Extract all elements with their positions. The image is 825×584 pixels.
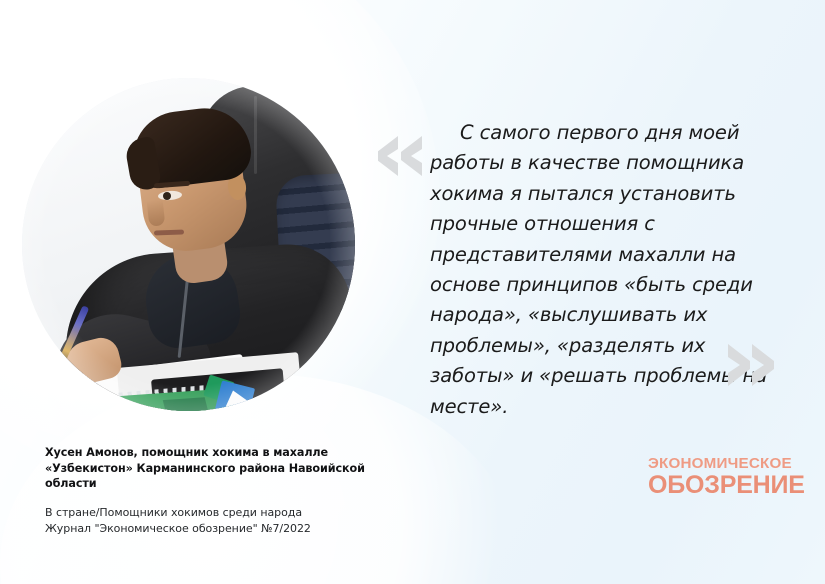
caption-source-block: В стране/Помощники хокимов среди народа … (45, 505, 395, 537)
caption-name-line-2: «Узбекистон» Карманинского района Навоий… (45, 461, 395, 492)
quote-card-slide: С самого первого дня моей работы в качес… (0, 0, 825, 584)
photo-edge-vignette (22, 78, 355, 411)
caption-name-line-1: Хусен Амонов, помощник хокима в махалле (45, 445, 395, 461)
portrait-photo (22, 78, 355, 411)
caption-source-line-2: Журнал "Экономическое обозрение" №7/2022 (45, 521, 395, 537)
caption-source-line-1: В стране/Помощники хокимов среди народа (45, 505, 395, 521)
logo-line-obozrenie: ОБОЗРЕНИЕ (648, 473, 793, 498)
caption-block: Хусен Амонов, помощник хокима в махалле … (45, 445, 395, 537)
close-quote-chevrons-icon (724, 342, 776, 388)
publication-logo: ЭКОНОМИЧЕСКОЕ ОБОЗРЕНИЕ (648, 456, 793, 498)
open-quote-chevrons-icon (378, 134, 426, 178)
logo-line-ekonomicheskoe: ЭКОНОМИЧЕСКОЕ (648, 456, 793, 472)
